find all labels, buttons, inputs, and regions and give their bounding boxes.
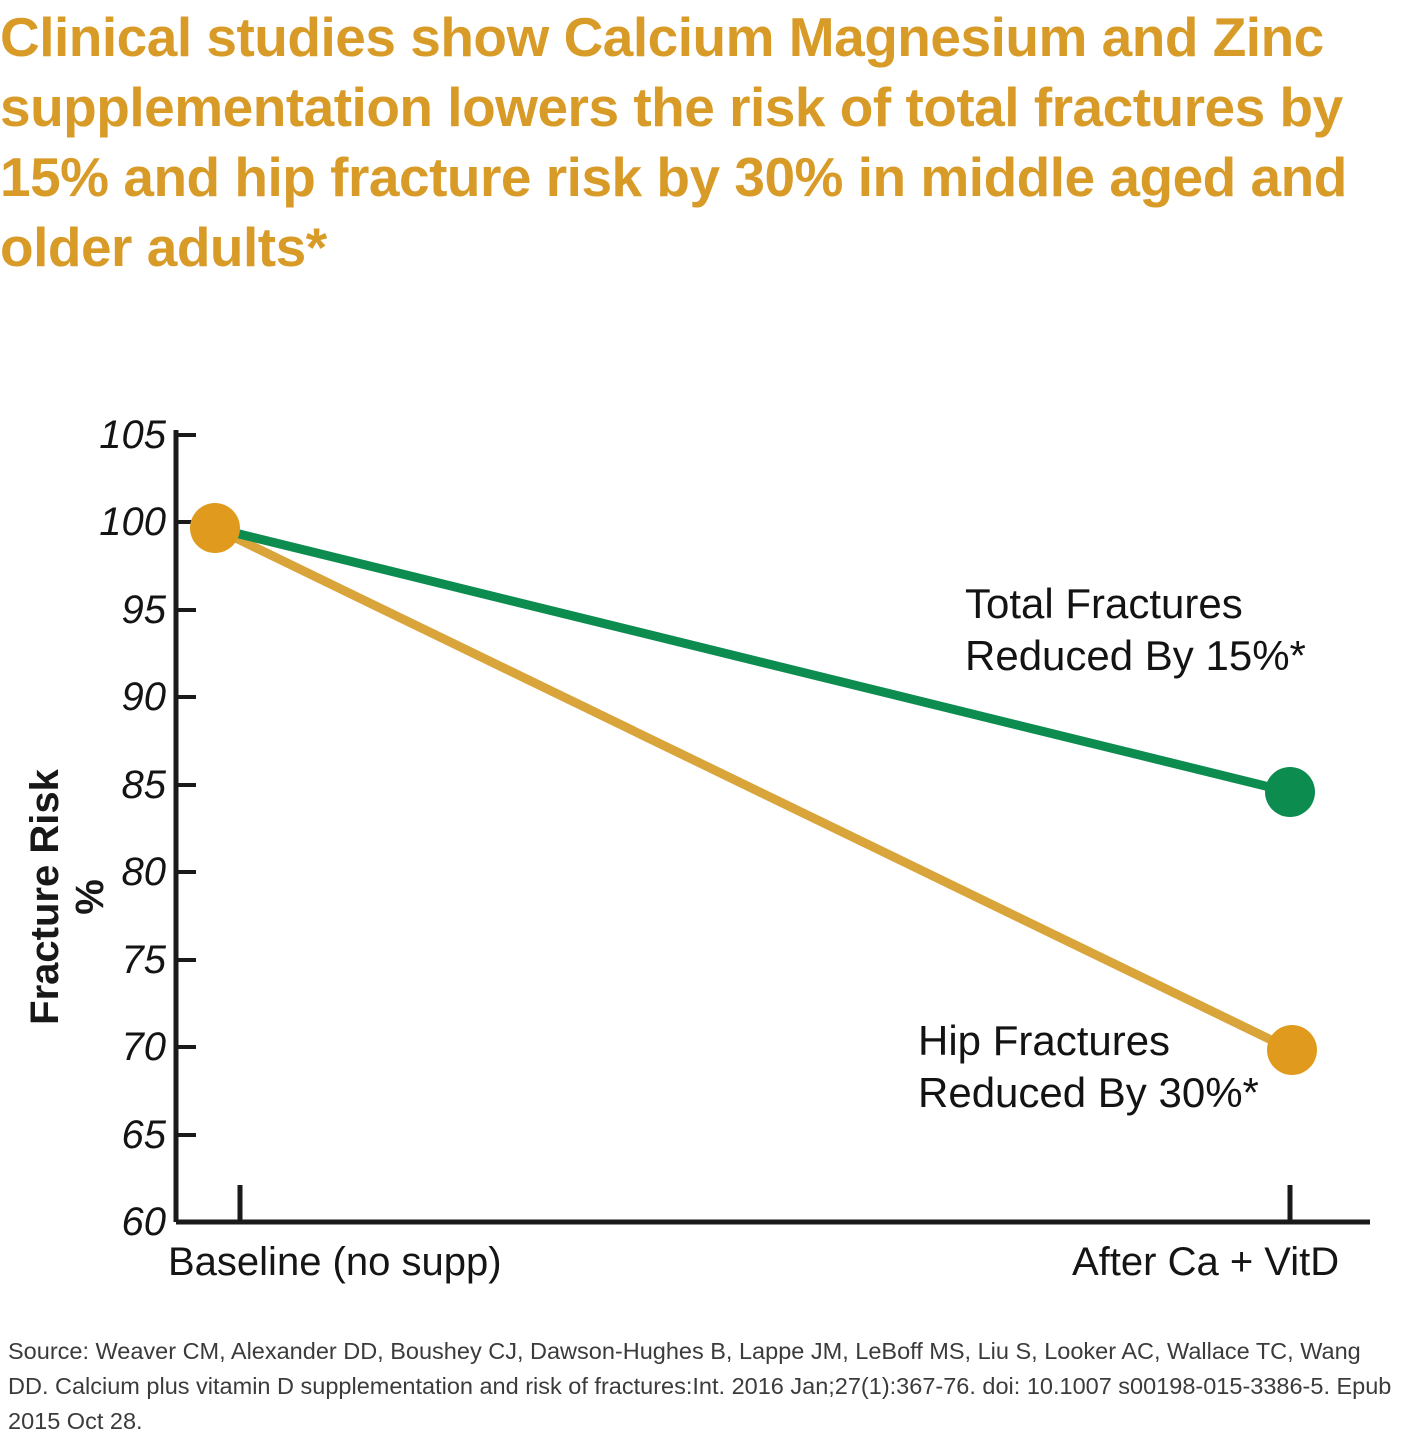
source-citation: Source: Weaver CM, Alexander DD, Boushey…	[8, 1334, 1400, 1439]
chart-plot-svg	[0, 400, 1408, 1300]
marker-hip-fractures-endpoint	[1267, 1025, 1317, 1075]
marker-total-fractures-endpoint	[1265, 767, 1315, 817]
series-line-hip-fractures	[215, 528, 1292, 1050]
x-axis-ticks	[240, 1185, 1290, 1222]
page-title: Clinical studies show Calcium Magnesium …	[0, 2, 1400, 282]
fracture-risk-line-chart: Fracture Risk % 105 100 95 90 85 80 75 7…	[0, 400, 1408, 1300]
series-line-total-fractures	[215, 528, 1290, 792]
marker-baseline	[190, 503, 240, 553]
y-axis-ticks	[176, 435, 196, 1222]
